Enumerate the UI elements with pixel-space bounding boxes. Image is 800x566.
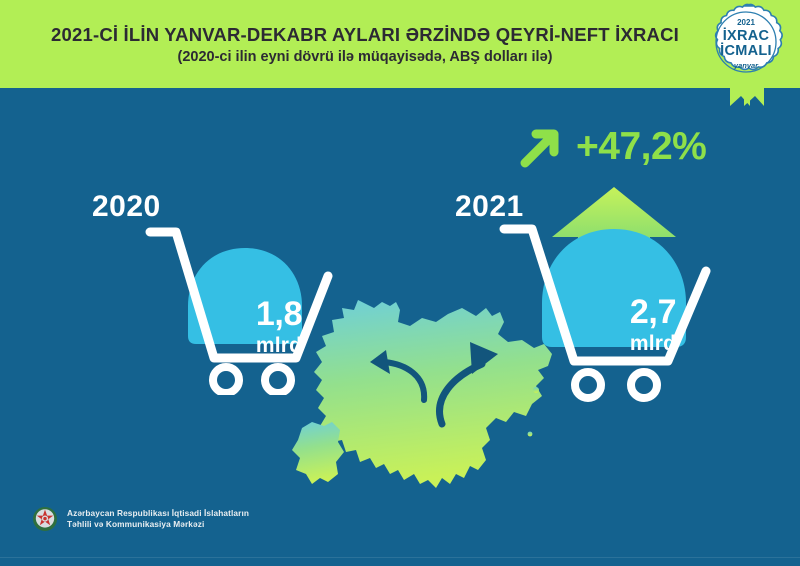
badge-rosette-icon (700, 2, 792, 110)
growth-indicator: +47,2% (518, 118, 748, 174)
page-title: 2021-Cİ İLİN YANVAR-DEKABR AYLARI ƏRZİND… (51, 24, 679, 45)
footer-line-2: Təhlili və Kommunikasiya Mərkəzi (67, 519, 249, 530)
cart-2020: 1,8 mlrd (130, 210, 360, 395)
growth-percent-value: +47,2% (576, 127, 706, 166)
header-band: 2021-Cİ İLİN YANVAR-DEKABR AYLARI ƏRZİND… (0, 0, 800, 88)
header-text-block: 2021-Cİ İLİN YANVAR-DEKABR AYLARI ƏRZİND… (0, 0, 730, 88)
footer-divider (0, 557, 800, 558)
footer: Azərbaycan Respublikası İqtisadi İslahat… (32, 506, 249, 532)
shopping-cart-2020-icon (130, 210, 360, 395)
footer-line-1: Azərbaycan Respublikası İqtisadi İslahat… (67, 508, 249, 519)
page-subtitle: (2020-ci ilin eyni dövrü ilə müqayisədə,… (178, 49, 553, 66)
shopping-cart-2021-icon (490, 185, 740, 403)
ixrac-icmali-badge: 2021 İXRAC İCMALI yanvar (700, 2, 792, 110)
cart-2021: 2,7 mlrd (490, 185, 740, 403)
arrow-up-right-icon (518, 123, 566, 169)
infographic-poster: 2021-Cİ İLİN YANVAR-DEKABR AYLARI ƏRZİND… (0, 0, 800, 566)
footer-text-block: Azərbaycan Respublikası İqtisadi İslahat… (67, 508, 249, 530)
azerbaijan-emblem-icon (32, 506, 58, 532)
